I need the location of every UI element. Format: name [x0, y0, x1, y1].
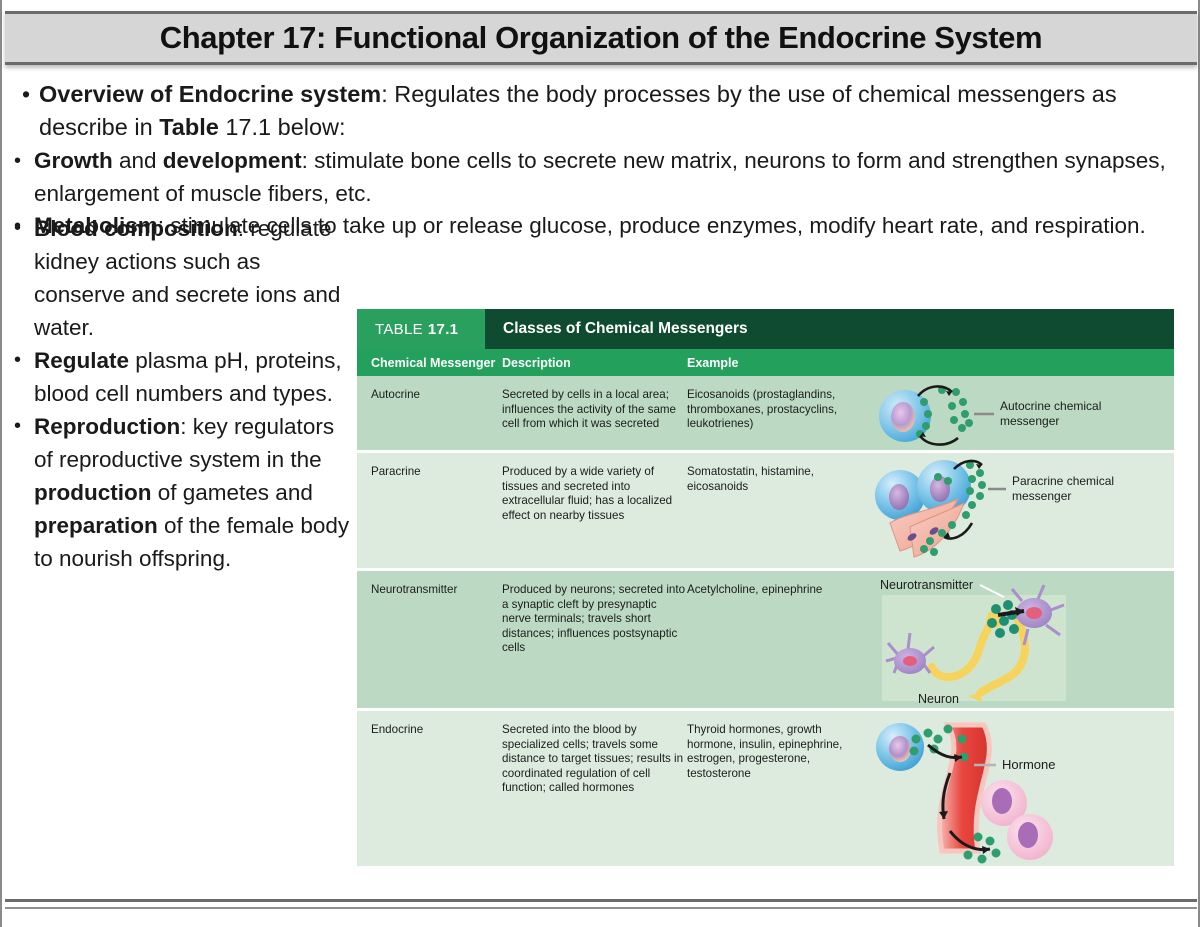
- column-header-messenger: Chemical Messenger: [357, 356, 502, 370]
- row-example-autocrine: Eicosanoids (prostaglandins, thromboxane…: [687, 376, 872, 450]
- bullet-regulate-lead: Regulate: [34, 348, 129, 373]
- bullet-reproduction: • Reproduction: key regulators of reprod…: [2, 410, 352, 575]
- row-name-paracrine: Paracrine: [357, 453, 502, 568]
- row-figure-endocrine: Hormone: [872, 711, 1174, 866]
- table-17-1: TABLE 17.1 Classes of Chemical Messenger…: [357, 309, 1174, 866]
- table-label-number: 17.1: [428, 321, 458, 338]
- bullet-reproduction-text-c: of gametes and: [151, 480, 312, 505]
- bullet-reproduction-lead: Reproduction: [34, 414, 180, 439]
- bullet-reproduction-bold-b: production: [34, 480, 151, 505]
- row-figure-paracrine: Paracrine chemical messenger: [872, 453, 1174, 568]
- row-description-autocrine: Secreted by cells in a local area; influ…: [502, 376, 687, 450]
- bullet-growth-bold-a: Growth: [34, 148, 113, 173]
- bullet-reproduction-bold-d: preparation: [34, 513, 158, 538]
- svg-text:messenger: messenger: [1012, 489, 1071, 503]
- paracrine-diagram-icon: Paracrine chemical messenger: [872, 453, 1174, 571]
- row-name-autocrine: Autocrine: [357, 376, 502, 450]
- bullet-growth-bold-b: development: [163, 148, 302, 173]
- column-header-example: Example: [687, 356, 872, 370]
- figure-label-hormone: Hormone: [1002, 757, 1055, 772]
- table-column-headers: Chemical Messenger Description Example: [357, 349, 1174, 376]
- table-header-bar: TABLE 17.1 Classes of Chemical Messenger…: [357, 309, 1174, 349]
- row-figure-autocrine: Autocrine chemical messenger: [872, 376, 1174, 450]
- row-description-endocrine: Secreted into the blood by specialized c…: [502, 711, 687, 866]
- bullet-overview-text-c: 17.1 below:: [219, 114, 346, 140]
- bullet-overview-bold-b: Table: [159, 114, 219, 140]
- row-description-neurotransmitter: Produced by neurons; secreted into a syn…: [502, 571, 687, 708]
- table-number-label: TABLE 17.1: [357, 309, 485, 349]
- table-title: Classes of Chemical Messengers: [485, 309, 1174, 349]
- bullet-blood-composition: • Blood composition: regulate kidney act…: [2, 212, 352, 344]
- row-figure-neurotransmitter: Neurotransmitter: [872, 571, 1174, 708]
- svg-text:messenger: messenger: [1000, 414, 1059, 428]
- bullet-glyph-icon: •: [14, 212, 21, 245]
- page-title: Chapter 17: Functional Organization of t…: [160, 20, 1042, 56]
- figure-label-autocrine: Autocrine chemical: [1000, 399, 1101, 413]
- column-header-description: Description: [502, 356, 687, 370]
- bullet-growth-mid: and: [113, 148, 163, 173]
- table-row: Paracrine Produced by a wide variety of …: [357, 450, 1174, 568]
- bullet-glyph-icon: •: [14, 344, 21, 377]
- row-description-paracrine: Produced by a wide variety of tissues an…: [502, 453, 687, 568]
- footer-rule-top: [5, 899, 1197, 902]
- row-example-neurotransmitter: Acetylcholine, epinephrine: [687, 571, 872, 708]
- figure-label-neuron: Neuron: [918, 692, 959, 706]
- figure-label-paracrine: Paracrine chemical: [1012, 474, 1114, 488]
- table-label-word: TABLE: [375, 321, 423, 338]
- bullet-glyph-icon: •: [22, 78, 30, 111]
- row-name-neurotransmitter: Neurotransmitter: [357, 571, 502, 708]
- bullet-overview-lead: Overview of Endocrine system: [39, 81, 381, 107]
- bullet-growth: • Growth and development: stimulate bone…: [2, 145, 1200, 210]
- row-example-endocrine: Thyroid hormones, growth hormone, insuli…: [687, 711, 872, 866]
- slide-title-bar: Chapter 17: Functional Organization of t…: [5, 11, 1197, 65]
- row-name-endocrine: Endocrine: [357, 711, 502, 866]
- slide-body-left-column: • Blood composition: regulate kidney act…: [2, 212, 352, 575]
- table-row: Endocrine Secreted into the blood by spe…: [357, 708, 1174, 866]
- bullet-overview: • Overview of Endocrine system: Regulate…: [2, 78, 1200, 144]
- row-example-paracrine: Somatostatin, histamine, eicosanoids: [687, 453, 872, 568]
- endocrine-diagram-icon: Hormone: [872, 711, 1174, 869]
- bullet-glyph-icon: •: [14, 145, 21, 178]
- bullet-list-level2-wrapped: • Blood composition: regulate kidney act…: [2, 212, 352, 575]
- autocrine-diagram-icon: Autocrine chemical messenger: [872, 376, 1174, 450]
- bullet-glyph-icon: •: [14, 410, 21, 443]
- bullet-blood-lead: Blood composition: [34, 216, 238, 241]
- neurotransmitter-diagram-icon: Neurotransmitter: [872, 571, 1174, 711]
- bullet-regulate: • Regulate plasma pH, proteins, blood ce…: [2, 344, 352, 410]
- figure-label-neurotransmitter: Neurotransmitter: [880, 578, 973, 592]
- table-row: Autocrine Secreted by cells in a local a…: [357, 376, 1174, 450]
- slide-canvas: Chapter 17: Functional Organization of t…: [0, 0, 1200, 927]
- table-row: Neurotransmitter Produced by neurons; se…: [357, 568, 1174, 708]
- footer-rule-bottom: [5, 907, 1197, 909]
